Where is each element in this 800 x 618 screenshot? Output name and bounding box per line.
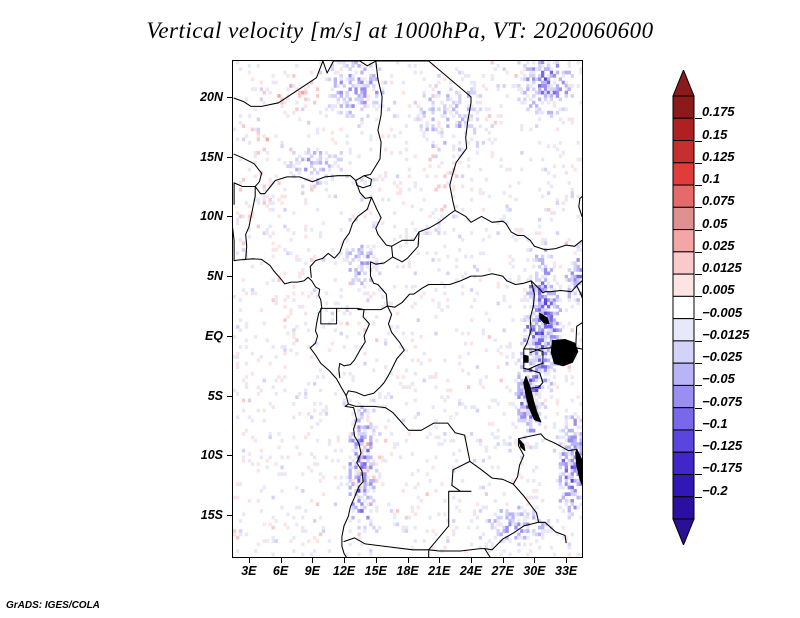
colorbar-label: 0.125 [702, 150, 735, 163]
x-axis-tick [439, 558, 440, 563]
colorbar-label: −0.125 [702, 439, 742, 452]
y-axis-label: 10S [179, 448, 223, 462]
colorbar-label: 0.05 [702, 217, 727, 230]
y-axis-tick [227, 336, 232, 337]
colorbar-tick [695, 185, 702, 186]
y-axis-label: 5N [179, 269, 223, 283]
colorbar-tick [695, 207, 702, 208]
colorbar-tick [695, 341, 702, 342]
x-axis-tick [281, 558, 282, 563]
x-axis-tick [344, 558, 345, 563]
colorbar-tick [695, 296, 702, 297]
colorbar-tick [695, 141, 702, 142]
colorbar-label: −0.175 [702, 461, 742, 474]
y-axis-label: 15S [179, 508, 223, 522]
x-axis-tick [534, 558, 535, 563]
map-plot-area[interactable] [232, 60, 583, 558]
vertical-velocity-field [233, 61, 582, 557]
colorbar-tick [695, 252, 702, 253]
x-axis-label: 33E [546, 564, 586, 578]
y-axis-label: EQ [179, 329, 223, 343]
colorbar-label: 0.075 [702, 194, 735, 207]
y-axis-label: 15N [179, 150, 223, 164]
y-axis-tick [227, 157, 232, 158]
colorbar-label: −0.05 [702, 372, 735, 385]
colorbar-tick [695, 385, 702, 386]
colorbar-tick [695, 408, 702, 409]
y-axis-label: 10N [179, 209, 223, 223]
y-axis-tick [227, 515, 232, 516]
colorbar-tick [695, 452, 702, 453]
page-title: Vertical velocity [m/s] at 1000hPa, VT: … [0, 18, 800, 44]
colorbar-label: 0.005 [702, 283, 735, 296]
x-axis-tick [249, 558, 250, 563]
colorbar-label: 0.15 [702, 128, 727, 141]
colorbar-label: 0.175 [702, 105, 735, 118]
colorbar-tick [695, 430, 702, 431]
colorbar-label: −0.1 [702, 417, 728, 430]
colorbar-label: −0.025 [702, 350, 742, 363]
colorbar-label: −0.005 [702, 306, 742, 319]
colorbar-label: 0.1 [702, 172, 720, 185]
x-axis-tick [376, 558, 377, 563]
y-axis-tick [227, 396, 232, 397]
colorbar-label: −0.075 [702, 395, 742, 408]
colorbar-tick [695, 474, 702, 475]
colorbar-tick [695, 163, 702, 164]
colorbar-tick [695, 363, 702, 364]
x-axis-tick [566, 558, 567, 563]
y-axis-tick [227, 455, 232, 456]
x-axis-tick [503, 558, 504, 563]
colorbar-swatches [672, 70, 695, 545]
colorbar-label: −0.0125 [702, 328, 749, 341]
colorbar-label: −0.2 [702, 484, 728, 497]
colorbar[interactable] [672, 70, 695, 545]
colorbar-tick [695, 274, 702, 275]
y-axis-label: 5S [179, 389, 223, 403]
colorbar-tick [695, 319, 702, 320]
y-axis-tick [227, 97, 232, 98]
y-axis-tick [227, 216, 232, 217]
colorbar-label: 0.025 [702, 239, 735, 252]
colorbar-tick [695, 118, 702, 119]
colorbar-tick [695, 497, 702, 498]
colorbar-tick [695, 230, 702, 231]
x-axis-tick [312, 558, 313, 563]
y-axis-tick [227, 276, 232, 277]
colorbar-label: 0.0125 [702, 261, 742, 274]
footer-credit: GrADS: IGES/COLA [6, 600, 100, 611]
y-axis-label: 20N [179, 90, 223, 104]
grads-plot-page: Vertical velocity [m/s] at 1000hPa, VT: … [0, 0, 800, 618]
x-axis-tick [471, 558, 472, 563]
x-axis-tick [408, 558, 409, 563]
